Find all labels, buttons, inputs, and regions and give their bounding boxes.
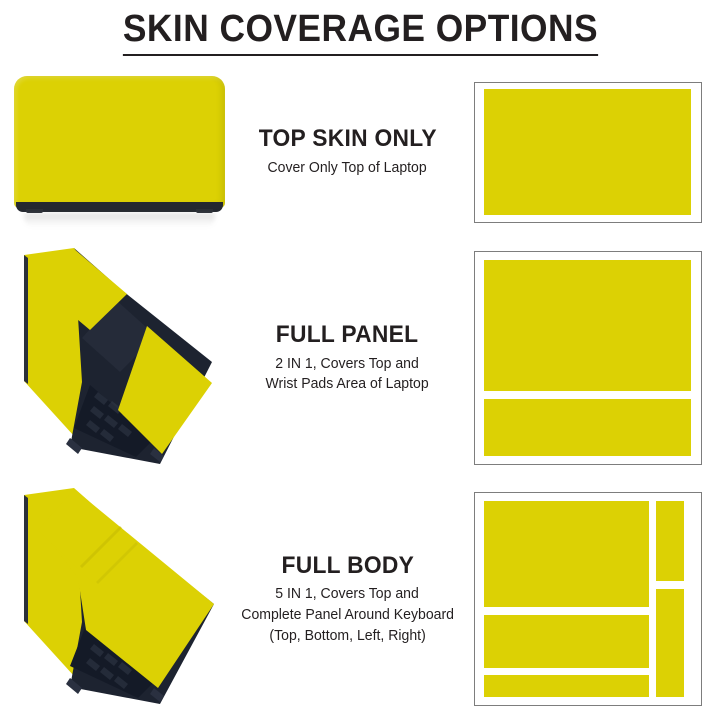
wrist-pad-piece: [484, 615, 649, 668]
right-strip-upper: [656, 501, 683, 581]
option-subtitle-line: Complete Panel Around Keyboard: [241, 605, 454, 626]
option-subtitle-line: (Top, Bottom, Left, Right): [269, 626, 425, 647]
diagram-container-top-skin-only: [455, 66, 720, 238]
option-subtitle-line: Cover Only Top of Laptop: [268, 158, 427, 179]
right-strip-lower: [656, 589, 683, 696]
option-subtitle-line: 5 IN 1, Covers Top and: [276, 584, 420, 605]
artwork-full-body: [0, 478, 240, 720]
top-lid-piece: [484, 260, 692, 390]
page-title-container: SKIN COVERAGE OPTIONS: [0, 0, 720, 66]
option-text-top-skin-only: TOP SKIN ONLY Cover Only Top of Laptop: [240, 66, 455, 238]
option-title: FULL BODY: [281, 552, 414, 580]
bottom-strip-piece: [484, 675, 649, 696]
option-row-full-body: FULL BODY 5 IN 1, Covers Top and Complet…: [0, 478, 720, 720]
top-lid-piece: [484, 89, 692, 215]
laptop-reflection: [24, 213, 215, 227]
diagram-container-full-body: [455, 478, 720, 720]
laptop-base-edge: [16, 202, 223, 212]
diagram-container-full-panel: [455, 238, 720, 478]
coverage-diagram: [474, 82, 702, 223]
laptop-lid-skin: [14, 76, 225, 208]
coverage-diagram: [474, 492, 702, 706]
option-text-full-panel: FULL PANEL 2 IN 1, Covers Top and Wrist …: [240, 238, 455, 478]
artwork-full-panel: [0, 238, 240, 478]
lid-edge-dark: [24, 495, 28, 624]
option-row-full-panel: FULL PANEL 2 IN 1, Covers Top and Wrist …: [0, 238, 720, 478]
option-text-full-body: FULL BODY 5 IN 1, Covers Top and Complet…: [240, 478, 455, 720]
laptop-closed-illustration: [14, 76, 225, 224]
laptop-open-illustration-full-panel: [8, 242, 234, 472]
page-title: SKIN COVERAGE OPTIONS: [122, 10, 597, 57]
coverage-diagram: [474, 251, 702, 465]
option-subtitle-line: Wrist Pads Area of Laptop: [266, 374, 429, 395]
artwork-top-skin-only: [0, 66, 240, 238]
skin-coverage-options-page: SKIN COVERAGE OPTIONS TOP SKIN ONLY Cove…: [0, 0, 720, 720]
option-title: TOP SKIN ONLY: [258, 125, 436, 153]
top-lid-piece: [484, 501, 649, 607]
option-title: FULL PANEL: [276, 321, 419, 349]
option-row-top-skin-only: TOP SKIN ONLY Cover Only Top of Laptop: [0, 66, 720, 238]
wrist-pad-piece: [484, 399, 692, 455]
laptop-open-illustration-full-body: [8, 482, 234, 712]
option-subtitle-line: 2 IN 1, Covers Top and: [276, 354, 420, 375]
